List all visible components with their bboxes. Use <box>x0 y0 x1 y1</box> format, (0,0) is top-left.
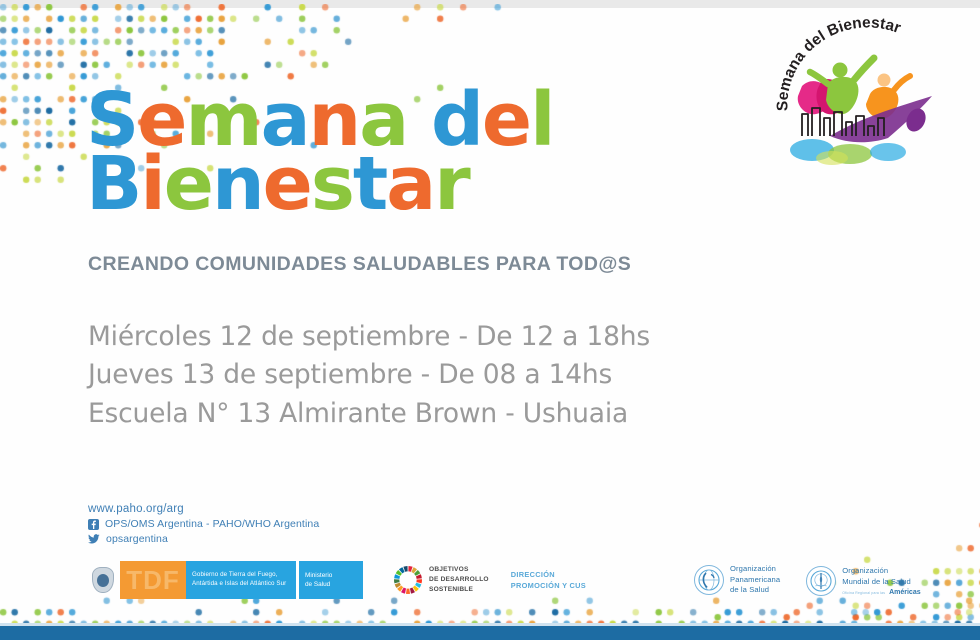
tdf-government-logo: TDF Gobierno de Tierra del Fuego, Antárt… <box>86 561 363 599</box>
tdf-acronym: TDF <box>126 567 180 593</box>
paho-line-1: Organización <box>730 564 780 575</box>
top-gray-strip <box>0 0 980 8</box>
sdg-line-2: DE DESARROLLO <box>429 575 489 585</box>
who-line-1: Organización <box>842 566 920 577</box>
who-emblem-icon <box>806 566 836 596</box>
paho-line-3: de la Salud <box>730 585 780 596</box>
who-line-2: Mundial de la Salud <box>842 577 920 588</box>
headline-letter: e <box>482 77 530 163</box>
bottom-blue-bar <box>0 626 980 640</box>
sdg-line-1: OBJETIVOS <box>429 565 489 575</box>
sdg-logo: OBJETIVOS DE DESARROLLO SOSTENIBLE <box>393 565 489 595</box>
event-info-line: Miércoles 12 de septiembre - De 12 a 18h… <box>88 318 650 356</box>
facebook-icon <box>88 519 99 530</box>
event-info-line: Escuela N° 13 Almirante Brown - Ushuaia <box>88 395 650 433</box>
who-logo: Organización Mundial de la Salud Oficina… <box>806 564 920 597</box>
who-region: Américas <box>889 589 921 596</box>
direction-promocion-logo: DIRECCIÓN PROMOCIÓN Y CUS <box>511 569 586 592</box>
twitter-handle: opsargentina <box>106 533 168 545</box>
tdf-ministry-block: Ministerio de Salud <box>299 561 363 599</box>
tdf-government-line-2: Antártida e Islas del Atlántico Sur <box>192 580 286 589</box>
headline-letter: i <box>140 141 163 227</box>
website-link[interactable]: www.paho.org/arg <box>88 503 319 515</box>
poster-headline: Semana del Bienestar <box>86 86 554 218</box>
poster-subtitle: CREANDO COMUNIDADES SALUDABLES PARA TOD@… <box>88 253 631 276</box>
twitter-icon <box>88 534 100 544</box>
direction-line-1: DIRECCIÓN <box>511 569 586 580</box>
headline-letter: r <box>434 141 469 227</box>
headline-letter: l <box>530 77 553 163</box>
tierra-del-fuego-coat-of-arms-icon <box>86 561 120 599</box>
contact-block: www.paho.org/arg OPS/OMS Argentina - PAH… <box>88 503 319 548</box>
facebook-row[interactable]: OPS/OMS Argentina - PAHO/WHO Argentina <box>88 518 319 530</box>
poster-canvas: Semana del Bienestar CREANDO COMUNIDADES… <box>0 0 980 640</box>
tdf-government-name-block: Gobierno de Tierra del Fuego, Antártida … <box>186 561 296 599</box>
paho-logo: Organización Panamericana de la Salud <box>694 564 780 596</box>
event-info-block: Miércoles 12 de septiembre - De 12 a 18h… <box>88 318 650 433</box>
headline-letter: a <box>386 141 434 227</box>
sdg-color-wheel-icon <box>393 565 423 595</box>
tdf-acronym-block: TDF <box>120 561 186 599</box>
tdf-ministry-line-1: Ministerio <box>305 571 332 580</box>
tdf-government-line-1: Gobierno de Tierra del Fuego, <box>192 571 286 580</box>
headline-letter: n <box>212 141 263 227</box>
who-region-row: Oficina Regional para las Américas <box>842 589 920 596</box>
facebook-handle: OPS/OMS Argentina - PAHO/WHO Argentina <box>105 518 319 530</box>
event-info-line: Jueves 13 de septiembre - De 08 a 14hs <box>88 356 650 394</box>
direction-line-2: PROMOCIÓN Y CUS <box>511 580 586 591</box>
twitter-row[interactable]: opsargentina <box>88 533 319 545</box>
headline-letter: e <box>164 141 212 227</box>
headline-letter: t <box>353 141 386 227</box>
who-region-note: Oficina Regional para las <box>842 591 885 595</box>
headline-letter: e <box>263 141 311 227</box>
sponsor-logo-bar: TDF Gobierno de Tierra del Fuego, Antárt… <box>86 561 921 599</box>
sdg-line-3: SOSTENIBLE <box>429 585 489 595</box>
headline-letter: s <box>311 141 353 227</box>
headline-letter: B <box>86 141 140 227</box>
paho-globe-icon <box>694 565 724 595</box>
tdf-ministry-line-2: de Salud <box>305 580 332 589</box>
paho-line-2: Panamericana <box>730 575 780 586</box>
dot-pattern-bottom-right <box>680 476 980 626</box>
semana-del-bienestar-emblem: Semana del Bienestar <box>770 18 960 168</box>
